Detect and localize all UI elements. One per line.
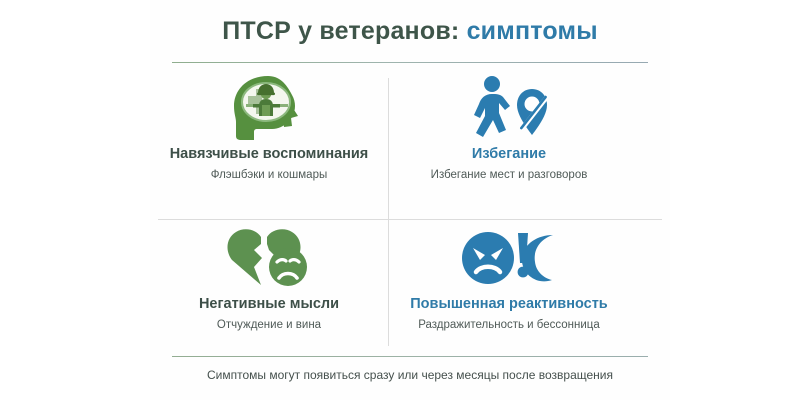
angry-face-exclamation-moon-icon (460, 227, 558, 289)
content-panel: ПТСР у ветеранов: симптомы (150, 0, 670, 400)
page-title-accent: симптомы (467, 17, 598, 45)
quadrant-hyperarousal[interactable]: Повышенная реактивность Раздражительност… (390, 222, 628, 362)
quadrant-avoidance[interactable]: Избегание Избегание мест и разговоров (390, 72, 628, 212)
head-with-soldier-icon (226, 74, 312, 142)
page-title-main: ПТСР у ветеранов: (222, 17, 459, 45)
quadrant-subtitle: Избегание мест и разговоров (390, 169, 628, 183)
quadrant-subtitle: Раздражительность и бессонница (390, 319, 628, 333)
footer-divider (172, 356, 648, 357)
grid-vertical-divider (388, 78, 389, 346)
quadrant-label: Навязчивые воспоминания (150, 146, 388, 163)
quadrant-negative-thoughts[interactable]: Негативные мысли Отчуждение и вина (150, 222, 388, 362)
quadrant-intrusive-memories[interactable]: Навязчивые воспоминания Флэшбэки и кошма… (150, 72, 388, 212)
icon-container (390, 222, 628, 294)
icon-container (150, 222, 388, 294)
slide-root: ПТСР у ветеранов: симптомы (0, 0, 800, 400)
symptom-grid: Навязчивые воспоминания Флэшбэки и кошма… (150, 72, 670, 346)
walking-person-no-location-icon (464, 75, 554, 141)
icon-container (390, 72, 628, 144)
footer-note: Симптомы могут появиться сразу или через… (150, 368, 670, 382)
title-divider (172, 62, 648, 63)
icon-container (150, 72, 388, 144)
page-title: ПТСР у ветеранов: симптомы (150, 18, 670, 46)
broken-heart-sad-face-icon (221, 227, 317, 289)
grid-horizontal-divider (158, 219, 662, 220)
quadrant-label: Негативные мысли (150, 296, 388, 313)
quadrant-subtitle: Флэшбэки и кошмары (150, 169, 388, 183)
quadrant-label: Избегание (390, 146, 628, 163)
quadrant-label: Повышенная реактивность (390, 296, 628, 313)
quadrant-subtitle: Отчуждение и вина (150, 319, 388, 333)
